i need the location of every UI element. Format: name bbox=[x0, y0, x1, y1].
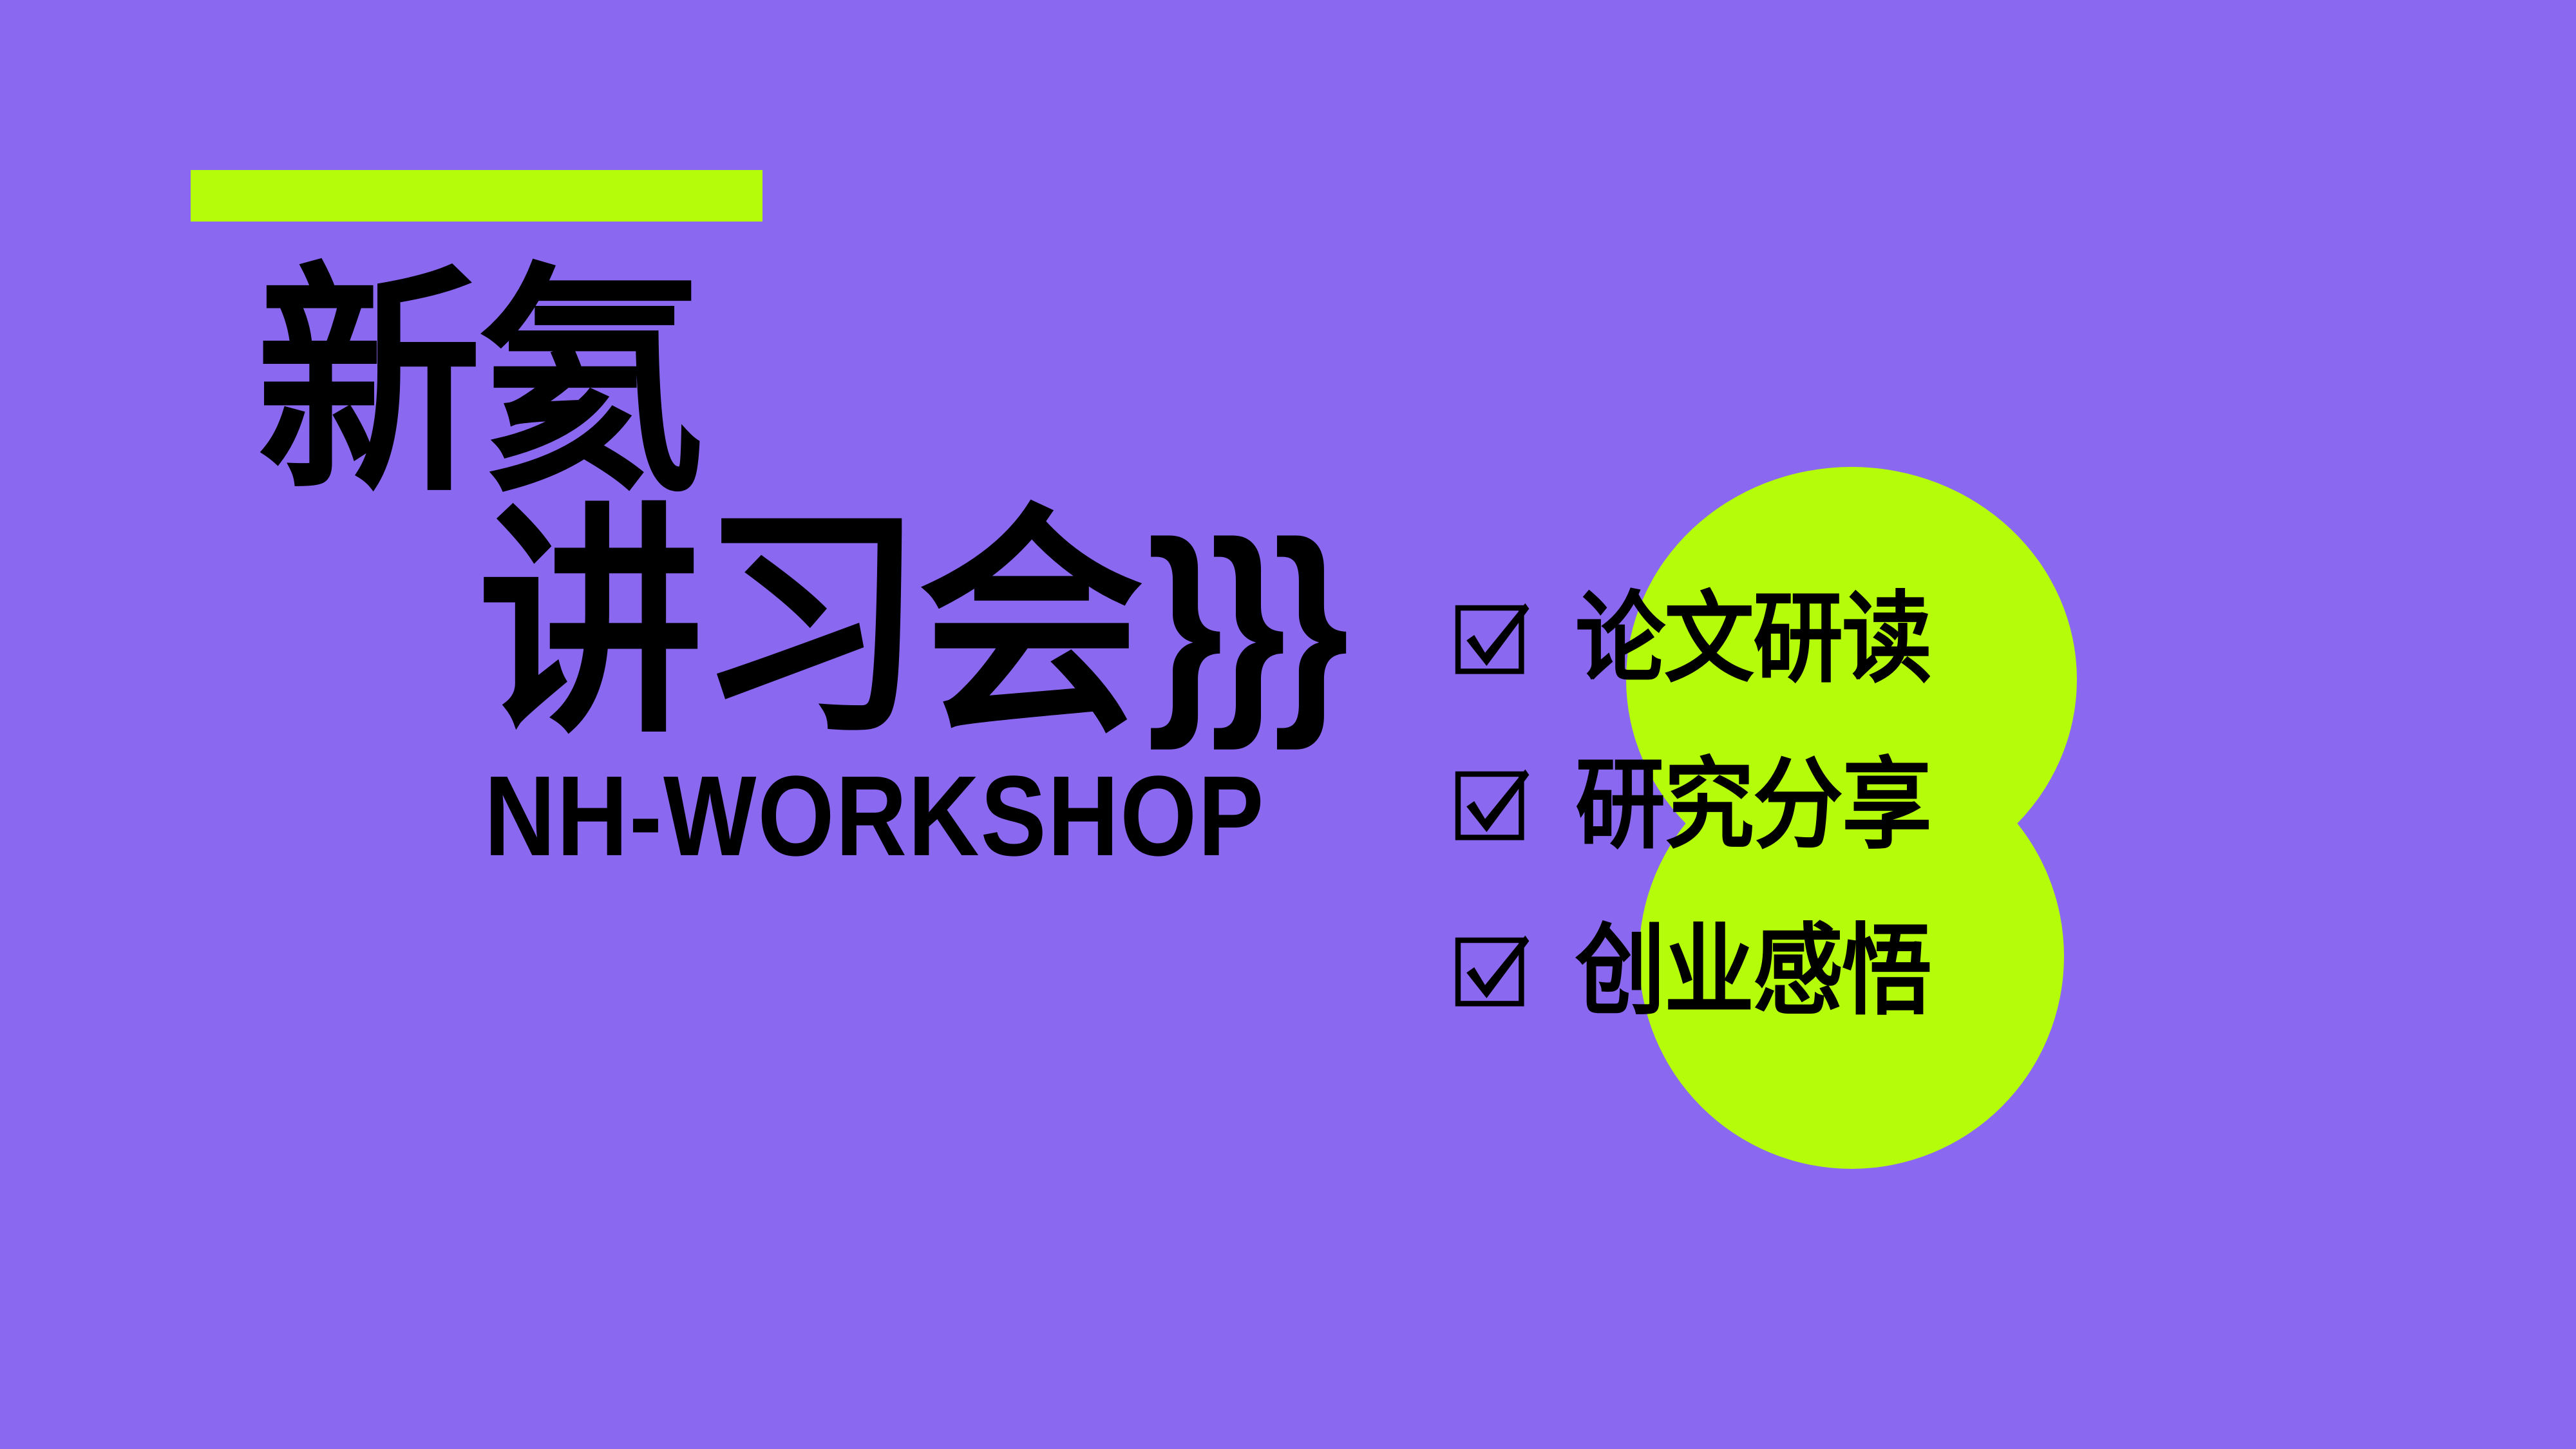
checklist-item[interactable]: 创业感悟 bbox=[1454, 923, 2163, 1019]
headline-block: 新氦 讲习会}}} NH-WORKSHOP bbox=[0, 0, 1417, 1449]
event-title-cn-row: 讲习会}}} bbox=[478, 504, 1344, 747]
checklist-item-label: 研究分享 bbox=[1575, 755, 1931, 855]
ballot-box-with-check-icon[interactable] bbox=[1454, 591, 1531, 687]
checklist-item-label: 论文研读 bbox=[1575, 589, 1931, 688]
brace-ornament: }}} bbox=[1147, 507, 1336, 737]
checklist: 论文研读 研究分享 创业感悟 bbox=[1454, 591, 2163, 1019]
event-title-en: NH-WORKSHOP bbox=[484, 759, 1265, 873]
checklist-item[interactable]: 论文研读 bbox=[1454, 591, 2163, 687]
checklist-item[interactable]: 研究分享 bbox=[1454, 757, 2163, 853]
checklist-item-label: 创业感悟 bbox=[1575, 922, 1931, 1021]
poster-canvas: 新氦 讲习会}}} NH-WORKSHOP 论文研读 研究分享 bbox=[0, 0, 2576, 1449]
ballot-box-with-check-icon[interactable] bbox=[1454, 757, 1531, 853]
ballot-box-with-check-icon[interactable] bbox=[1454, 923, 1531, 1019]
event-title-cn: 讲习会 bbox=[478, 489, 1139, 761]
brand-title-cn: 新氦 bbox=[256, 263, 699, 506]
